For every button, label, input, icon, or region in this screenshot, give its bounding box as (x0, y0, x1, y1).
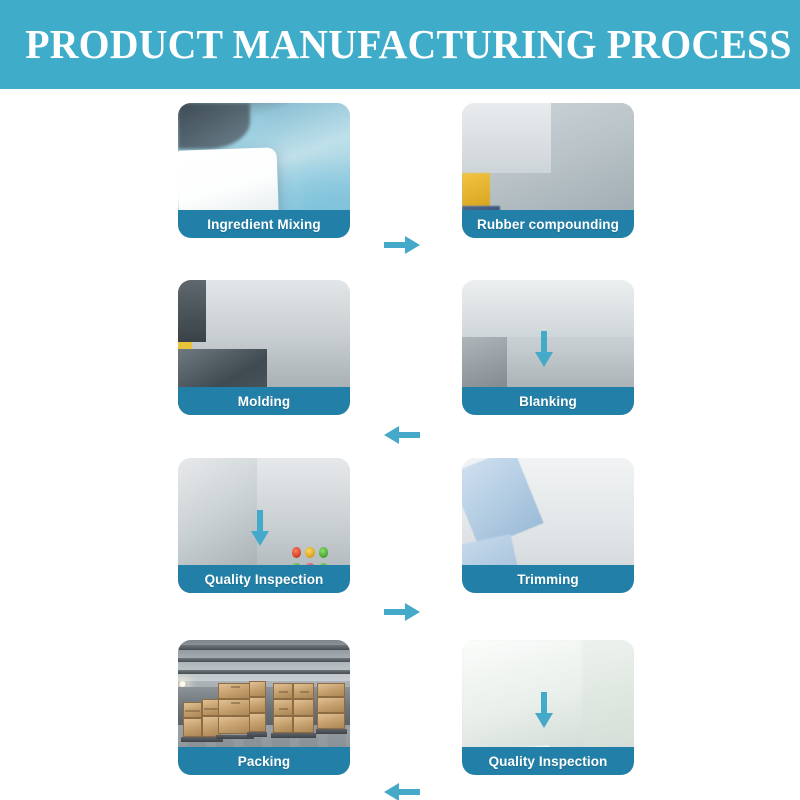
scene-cardboard-box (183, 718, 202, 737)
step-caption: Quality Inspection (462, 747, 634, 775)
scene-cardboard-box (249, 681, 266, 697)
manufacturing-process-infographic: PRODUCT MANUFACTURING PROCESS Ingredient… (0, 0, 800, 800)
scene-back-wall (462, 280, 634, 337)
arrow-right-icon (383, 599, 421, 625)
scene-left-control-panel (178, 280, 206, 342)
step-caption: Trimming (462, 565, 634, 593)
step-caption: Rubber compounding (462, 210, 634, 238)
scene-cardboard-box (317, 683, 345, 697)
process-flow-diagram: Ingredient Mixing (0, 89, 800, 800)
arrow-left-icon (383, 779, 421, 800)
flow-arrow-left-1 (383, 422, 421, 448)
scene-box-tape (279, 691, 288, 693)
flow-arrow-down-2 (247, 509, 273, 547)
scene-yellow-equipment (462, 173, 490, 205)
arrow-down-icon (531, 330, 557, 368)
page-title: PRODUCT MANUFACTURING PROCESS (0, 24, 792, 65)
process-step-card-trimming[interactable]: Trimming (462, 458, 634, 593)
scene-inspection-table (462, 640, 582, 748)
process-step-card-ingredient-mixing[interactable]: Ingredient Mixing (178, 103, 350, 238)
scene-cardboard-box (317, 697, 345, 713)
scene-pallet (271, 733, 316, 738)
scene-back-wall (462, 103, 551, 173)
scene-box-tape (300, 691, 309, 693)
header-banner: PRODUCT MANUFACTURING PROCESS (0, 0, 800, 89)
scene-cardboard-box (317, 713, 345, 729)
scene-box-tape (279, 708, 288, 710)
scene-ceiling-beam (178, 645, 350, 650)
scene-cardboard-box (293, 716, 314, 734)
scene-box-tape (231, 702, 240, 704)
scene-control-button (292, 547, 301, 558)
flow-arrow-right-1 (383, 232, 421, 258)
scene-ceiling-beam (178, 658, 350, 663)
scene-pallet (316, 729, 347, 734)
process-step-card-packing[interactable]: Packing (178, 640, 350, 775)
flow-arrow-left-2 (383, 779, 421, 800)
arrow-down-icon (247, 509, 273, 547)
step-caption: Quality Inspection (178, 565, 350, 593)
step-caption: Blanking (462, 387, 634, 415)
scene-ceiling-light (178, 681, 187, 688)
flow-arrow-down-3 (531, 691, 557, 729)
arrow-down-icon (531, 691, 557, 729)
scene-cardboard-box (293, 699, 314, 715)
scene-tester-cabinet (178, 458, 257, 577)
scene-control-button (319, 547, 328, 558)
scene-cardboard-box (249, 713, 266, 732)
scene-cardboard-box (249, 697, 266, 713)
process-step-card-rubber-compounding[interactable]: Rubber compounding (462, 103, 634, 238)
scene-cardboard-box (273, 716, 294, 734)
arrow-left-icon (383, 422, 421, 448)
arrow-right-icon (383, 232, 421, 258)
scene-dark-corner (178, 103, 250, 149)
step-caption: Molding (178, 387, 350, 415)
step-caption: Ingredient Mixing (178, 210, 350, 238)
scene-box-tape (185, 710, 200, 712)
flow-arrow-down-1 (531, 330, 557, 368)
scene-pallet (247, 732, 268, 737)
scene-control-button (305, 547, 314, 558)
scene-yellow-tag (178, 342, 192, 349)
scene-ceiling-beam (178, 670, 350, 675)
flow-arrow-right-2 (383, 599, 421, 625)
process-step-card-molding[interactable]: Molding (178, 280, 350, 415)
step-caption: Packing (178, 747, 350, 775)
scene-box-tape (231, 686, 240, 688)
